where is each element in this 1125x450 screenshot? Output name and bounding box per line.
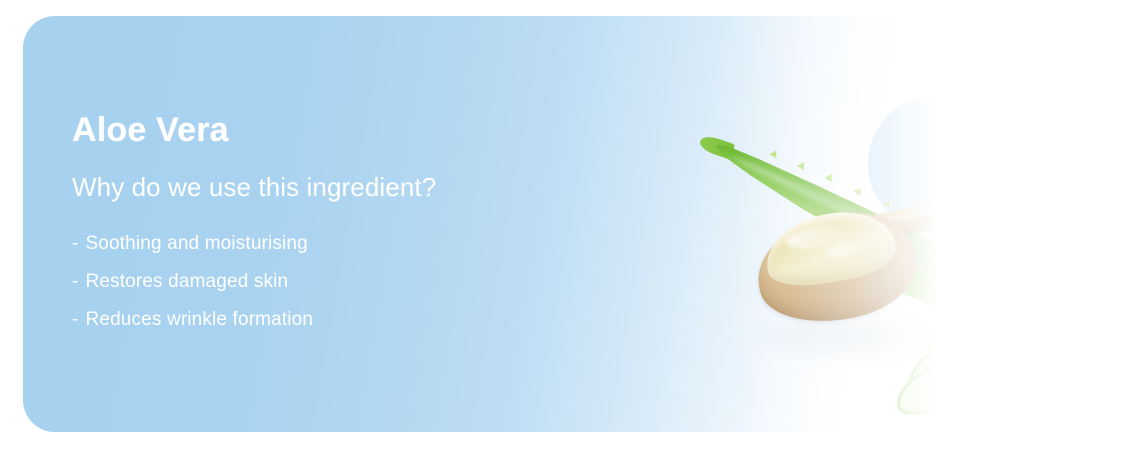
ingredient-copy: Aloe Vera Why do we use this ingredient?… xyxy=(72,111,592,339)
list-item-label: Restores damaged skin xyxy=(85,271,288,292)
bullet-dash-icon: - xyxy=(72,271,78,292)
list-item-label: Reduces wrinkle formation xyxy=(85,309,313,330)
bullet-dash-icon: - xyxy=(72,309,78,330)
aloe-thorn xyxy=(825,172,836,182)
aloe-thorn xyxy=(769,148,780,158)
page-title: Aloe Vera xyxy=(72,111,592,150)
aloe-thorn xyxy=(797,160,808,170)
list-item-label: Soothing and moisturising xyxy=(85,233,307,254)
list-item: -Reduces wrinkle formation xyxy=(72,301,592,339)
ingredient-question: Why do we use this ingredient? xyxy=(72,172,592,203)
ingredient-card: Aloe Vera Why do we use this ingredient?… xyxy=(23,16,1063,432)
aloe-thorn xyxy=(854,185,865,195)
banner-stage: Aloe Vera Why do we use this ingredient?… xyxy=(0,0,1125,450)
list-item: -Restores damaged skin xyxy=(72,263,592,301)
aloe-vera-photo xyxy=(713,76,1063,396)
bullet-dash-icon: - xyxy=(72,233,78,254)
aloe-thorn xyxy=(883,198,894,208)
aloe-thorn xyxy=(971,236,982,246)
benefit-list: -Soothing and moisturising -Restores dam… xyxy=(72,225,592,339)
spoon-handle-highlight xyxy=(871,182,1050,226)
list-item: -Soothing and moisturising xyxy=(72,225,592,263)
